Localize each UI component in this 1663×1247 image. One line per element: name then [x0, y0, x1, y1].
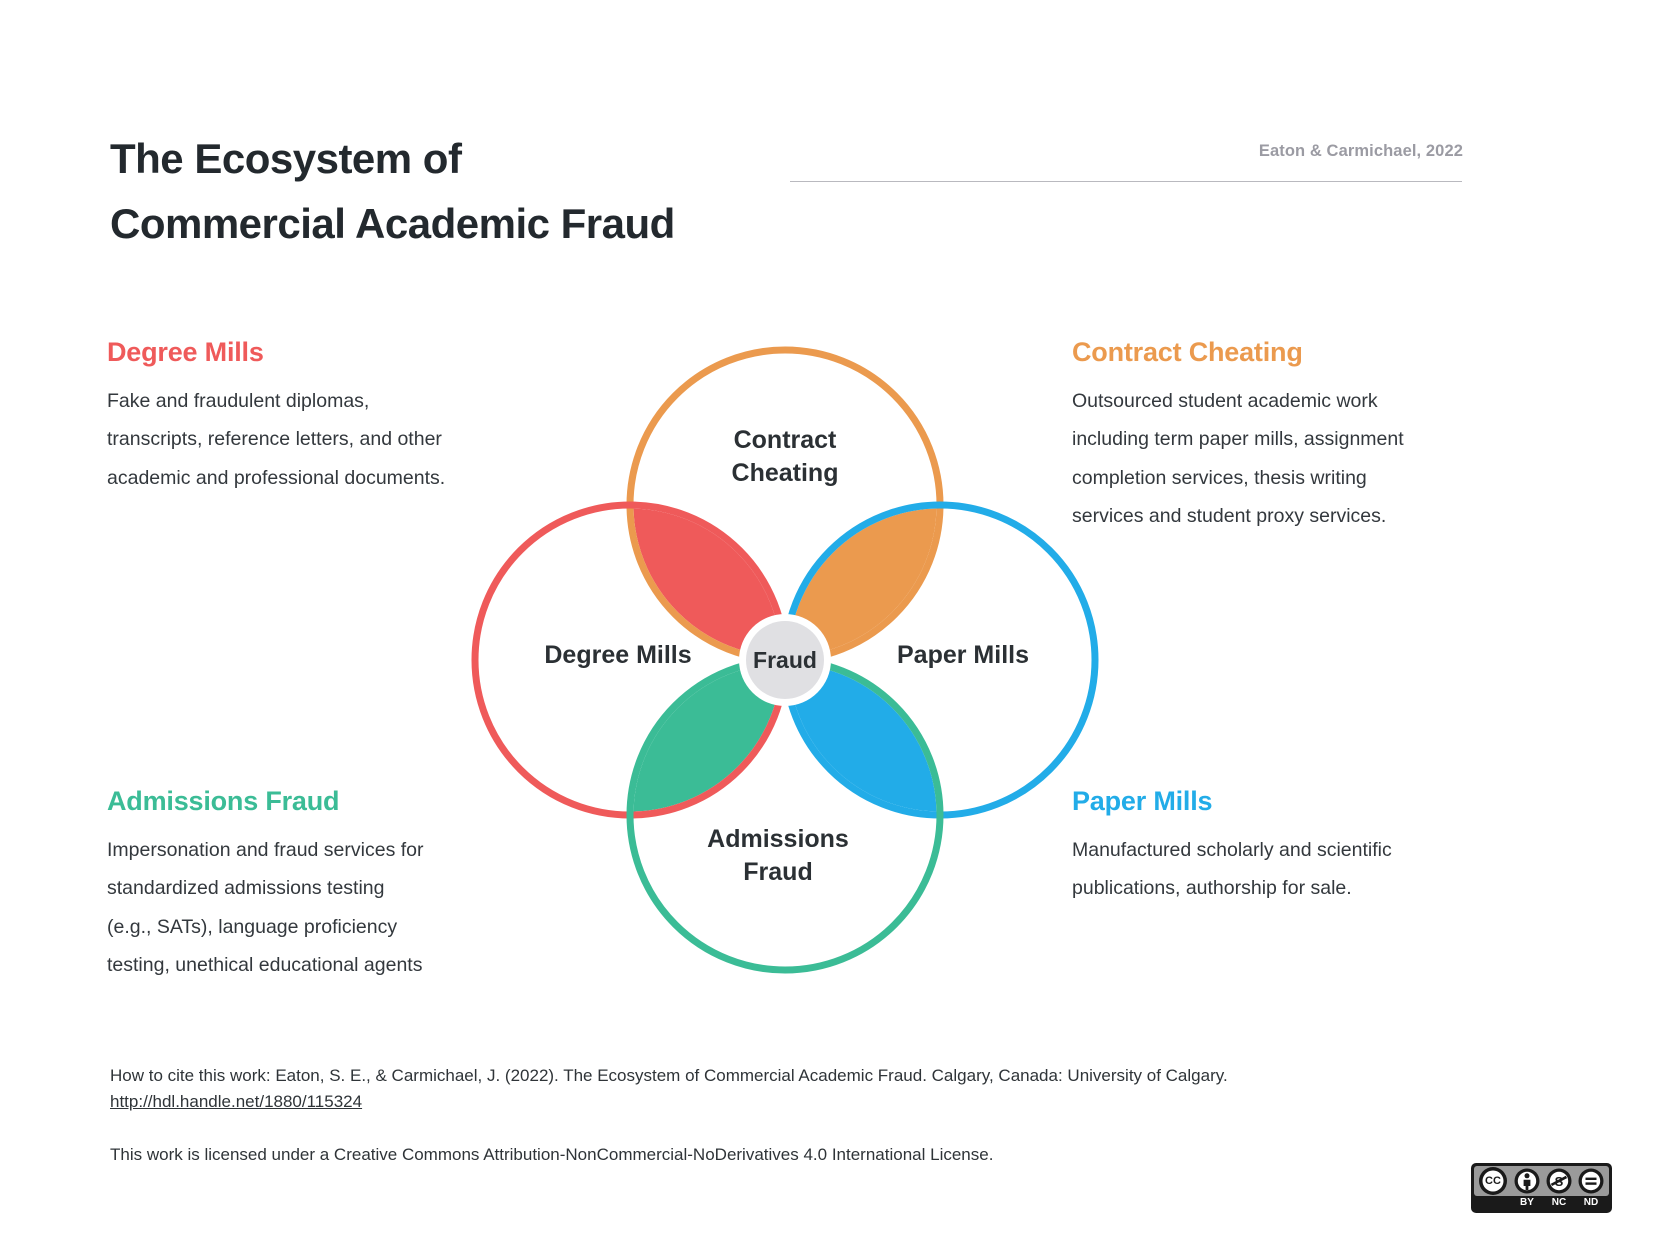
section-paper-mills: Paper Mills Manufactured scholarly and s… [1072, 786, 1502, 908]
center-label-fraud: Fraud [753, 647, 817, 673]
venn-label-contract-cheating-line2: Cheating [732, 459, 839, 487]
page-title-line-2: Commercial Academic Fraud [110, 191, 870, 256]
section-contract-cheating: Contract Cheating Outsourced student aca… [1072, 337, 1502, 536]
license-text: This work is licensed under a Creative C… [110, 1142, 1410, 1168]
section-title-contract-cheating: Contract Cheating [1072, 337, 1502, 368]
cc-label-by: BY [1520, 1197, 1534, 1208]
section-body-paper-mills: Manufactured scholarly and scientific pu… [1072, 831, 1502, 908]
cc-label-nd: ND [1584, 1197, 1598, 1208]
venn-label-degree-mills: Degree Mills [544, 641, 691, 669]
cc-label-nc: NC [1552, 1197, 1566, 1208]
creative-commons-badge: CC S BY NC ND [1471, 1163, 1612, 1213]
citation-text: How to cite this work: Eaton, S. E., & C… [110, 1063, 1410, 1089]
attribution-text: Eaton & Carmichael, 2022 [1259, 142, 1463, 161]
page-title: The Ecosystem of Commercial Academic Fra… [110, 126, 870, 256]
body-line: Outsourced student academic work [1072, 382, 1502, 420]
cc-logo-icon: CC [1479, 1167, 1507, 1195]
venn-label-admissions-fraud-line1: Admissions [707, 825, 849, 853]
cc-nd-noderivatives-icon [1579, 1169, 1604, 1194]
body-line: services and student proxy services. [1072, 497, 1502, 535]
venn-label-paper-mills: Paper Mills [897, 641, 1029, 669]
footer: How to cite this work: Eaton, S. E., & C… [110, 1063, 1410, 1168]
body-line: publications, authorship for sale. [1072, 869, 1502, 907]
venn-label-contract-cheating-line1: Contract [734, 426, 837, 454]
body-line: completion services, thesis writing [1072, 459, 1502, 497]
circle-admissions-fraud [630, 660, 940, 970]
header-divider [790, 181, 1462, 182]
section-body-contract-cheating: Outsourced student academic work includi… [1072, 382, 1502, 536]
page-title-line-1: The Ecosystem of [110, 126, 870, 191]
venn-diagram: Fraud Contract Cheating Degree Mills Pap… [455, 330, 1115, 980]
body-line: Manufactured scholarly and scientific [1072, 831, 1502, 869]
svg-text:CC: CC [1485, 1175, 1501, 1187]
venn-label-admissions-fraud-line2: Fraud [743, 858, 812, 886]
body-line: including term paper mills, assignment [1072, 420, 1502, 458]
circle-contract-cheating [630, 350, 940, 660]
cc-by-person-icon [1515, 1169, 1540, 1194]
citation-url-link[interactable]: http://hdl.handle.net/1880/115324 [110, 1089, 362, 1115]
cc-nc-nocommercial-icon: S [1547, 1169, 1572, 1194]
section-title-paper-mills: Paper Mills [1072, 786, 1502, 817]
